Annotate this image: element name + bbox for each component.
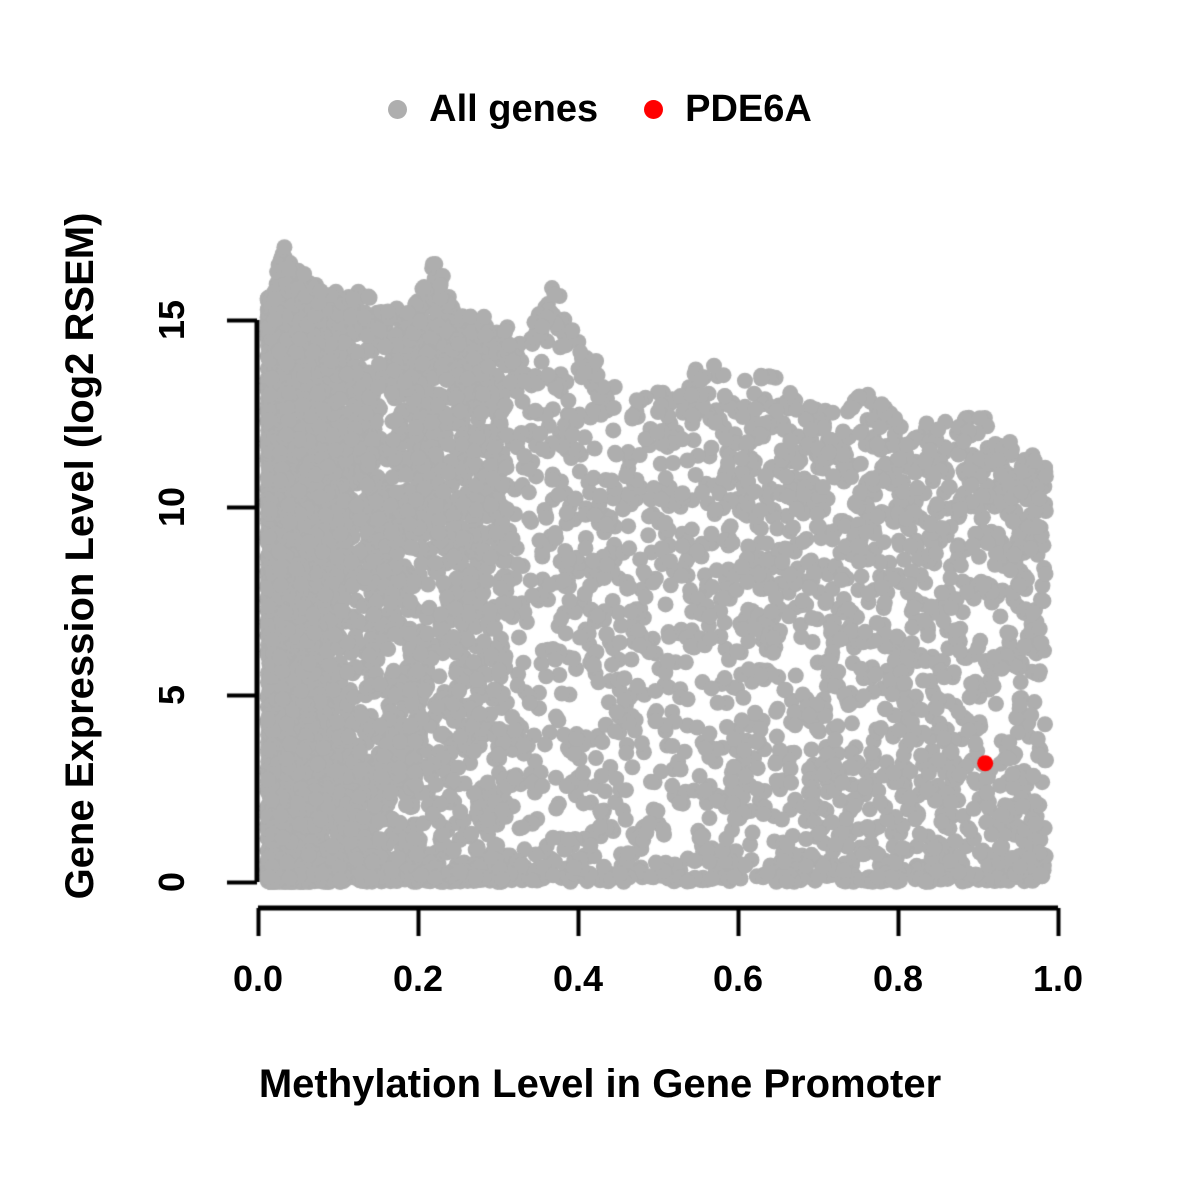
y-tick-label: 5: [151, 685, 193, 705]
x-tick-label: 0.2: [393, 958, 443, 1000]
legend-entry-pde6a: PDE6A: [644, 90, 812, 128]
x-tick-label: 1.0: [1033, 958, 1083, 1000]
scatter-plot-canvas: [0, 0, 1200, 1200]
x-tick-label: 0.0: [233, 958, 283, 1000]
y-tick-label: 10: [151, 487, 193, 527]
y-tick-label: 0: [151, 872, 193, 892]
x-tick-label: 0.6: [713, 958, 763, 1000]
scatter-plot-figure: All genes PDE6A Methylation Level in Gen…: [0, 0, 1200, 1200]
legend-marker-all-genes-icon: [388, 100, 407, 119]
chart-legend: All genes PDE6A: [0, 82, 1200, 136]
y-tick-label: 15: [151, 300, 193, 340]
x-tick-label: 0.4: [553, 958, 603, 1000]
legend-label-all-genes: All genes: [429, 90, 598, 128]
x-tick-label: 0.8: [873, 958, 923, 1000]
legend-marker-pde6a-icon: [644, 100, 663, 119]
legend-label-pde6a: PDE6A: [685, 90, 812, 128]
x-axis-title: Methylation Level in Gene Promoter: [0, 1062, 1200, 1107]
legend-entry-all-genes: All genes: [388, 90, 598, 128]
